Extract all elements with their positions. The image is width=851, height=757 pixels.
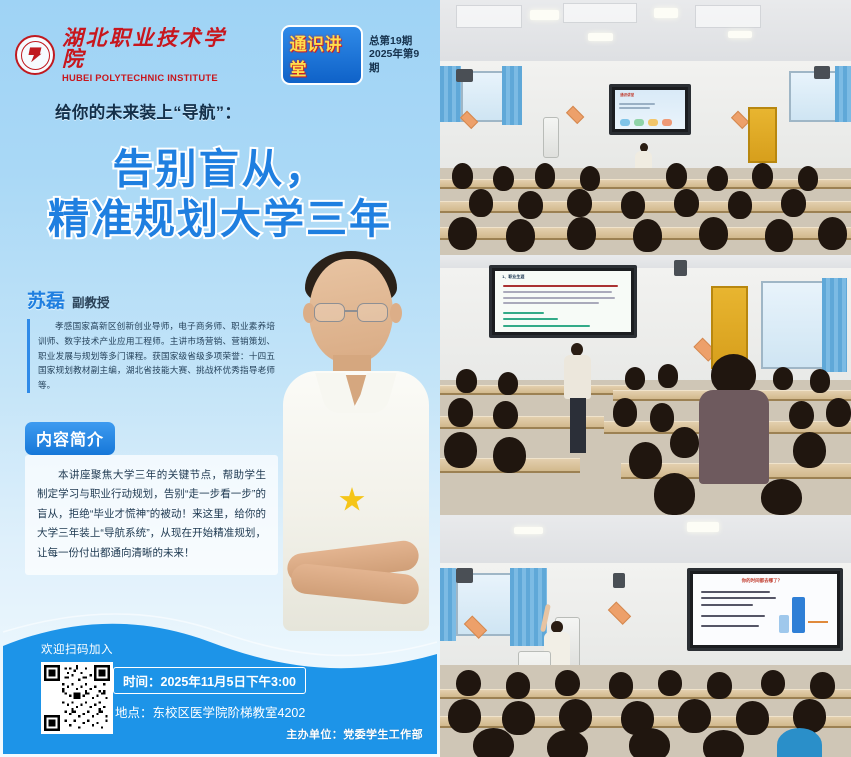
event-poster: 湖北职业技术学院 HUBEI POLYTECHNIC INSTITUTE 通识讲…: [0, 0, 440, 757]
poster-subtitle: 给你的未来装上“导航”：: [55, 99, 241, 123]
poster-footer: 欢迎扫码加入: [3, 624, 437, 754]
issue-total: 总第19期: [369, 35, 425, 48]
time-value: 2025年11月5日下午3:00: [161, 675, 297, 689]
place-label: 地点：: [115, 706, 153, 720]
poster-header: 湖北职业技术学院 HUBEI POLYTECHNIC INSTITUTE 通识讲…: [3, 25, 437, 85]
poster-title-line2: 精准规划大学三年: [3, 185, 437, 245]
university-name-cn: 湖北职业技术学院: [62, 28, 235, 70]
speaker-name: 苏磊: [27, 286, 65, 313]
event-host: 主办单位：党委学生工作部: [286, 726, 423, 742]
qr-label: 欢迎扫码加入: [41, 641, 113, 657]
speaker-rank: 副教授: [72, 292, 110, 311]
university-logo: 湖北职业技术学院 HUBEI POLYTECHNIC INSTITUTE: [15, 28, 235, 82]
photo-column: 通识讲堂: [440, 0, 851, 757]
university-seal-icon: [15, 35, 55, 75]
portrait-ear-right: [390, 303, 402, 323]
intro-body: 本讲座聚焦大学三年的关键节点，帮助学生制定学习与职业行动规划，告别“走一步看一步…: [25, 455, 278, 575]
issue-year: 2025年第9期: [369, 48, 425, 75]
series-badge: 通识讲堂: [281, 25, 364, 85]
time-label: 时间：: [123, 675, 161, 689]
qr-code-icon[interactable]: [41, 662, 113, 734]
event-time: 时间：2025年11月5日下午3:00: [113, 667, 306, 694]
host-value: 党委学生工作部: [343, 729, 423, 741]
photo-lecture-pointing: 你的时间都去哪了？: [440, 515, 851, 757]
host-label: 主办单位：: [286, 729, 343, 741]
place-value: 东校区医学院阶梯教室4202: [153, 706, 306, 720]
event-place: 地点：东校区医学院阶梯教室4202: [115, 702, 305, 721]
speaker-bio: 孝感国家高新区创新创业导师，电子商务师、职业素养培训师、数字技术产业应用工程师。…: [27, 319, 275, 393]
university-name-en: HUBEI POLYTECHNIC INSTITUTE: [62, 73, 235, 82]
photo-classroom-interaction: 1、职业生涯: [440, 255, 851, 515]
poster-page: 湖北职业技术学院 HUBEI POLYTECHNIC INSTITUTE 通识讲…: [0, 0, 851, 757]
speaker-identity: 苏磊 副教授: [27, 286, 110, 313]
intro-heading: 内容简介: [25, 422, 115, 455]
photo-lecture-hall-wide: 通识讲堂: [440, 0, 851, 255]
series-info: 通识讲堂 总第19期 2025年第9期: [281, 25, 426, 85]
portrait-glasses: [314, 303, 388, 322]
